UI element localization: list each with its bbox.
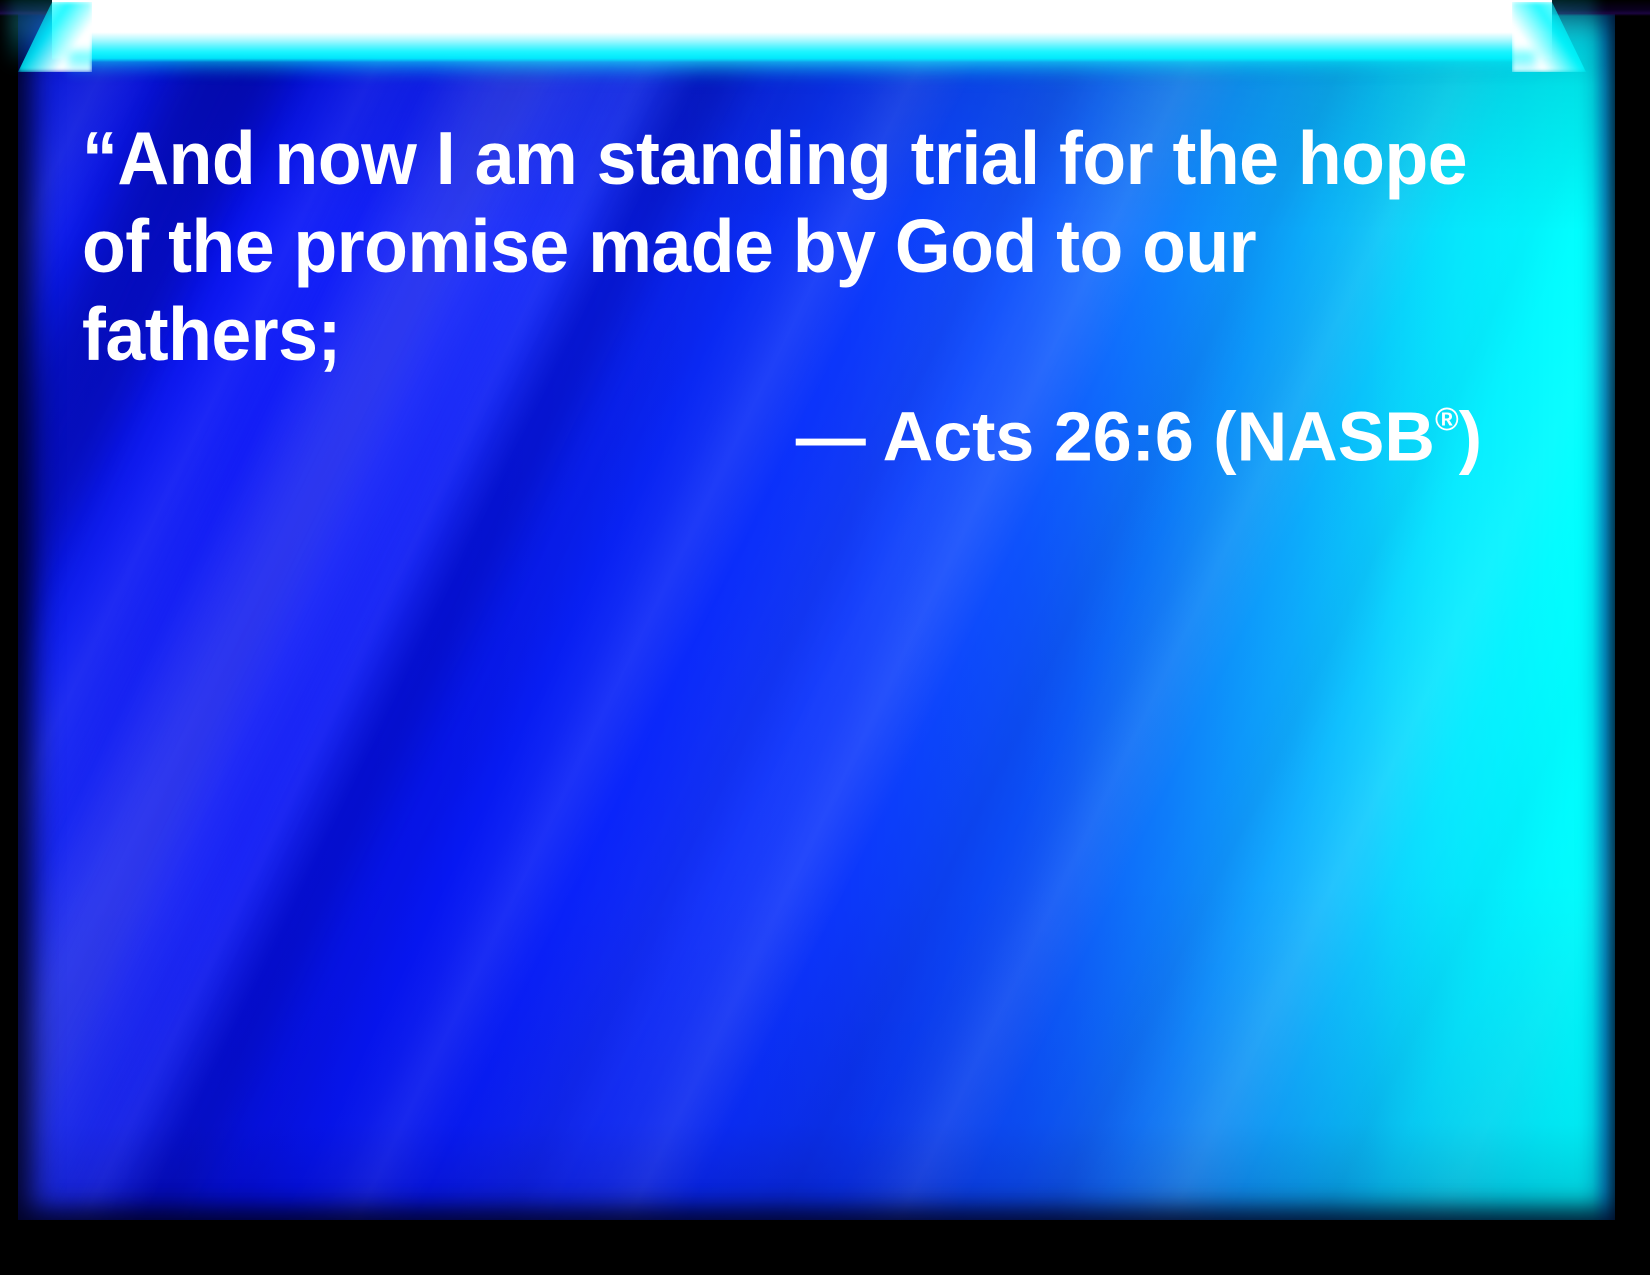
citation-prefix: — Acts 26:6 (NASB [796,398,1435,476]
verse-line-2: of the promise made by God to our [82,202,1419,290]
verse-line-3: fathers; [82,290,1419,378]
citation-suffix: ) [1459,398,1482,476]
bible-verse-slide: “And now I am standing trial for the hop… [0,0,1650,1275]
verse-citation: — Acts 26:6 (NASB®) [82,378,1482,478]
verse-line-1: “And now I am standing trial for the hop… [82,114,1419,202]
text-layer: “And now I am standing trial for the hop… [0,0,1650,1275]
verse-text-block: “And now I am standing trial for the hop… [82,114,1482,378]
registered-trademark-icon: ® [1435,401,1459,437]
